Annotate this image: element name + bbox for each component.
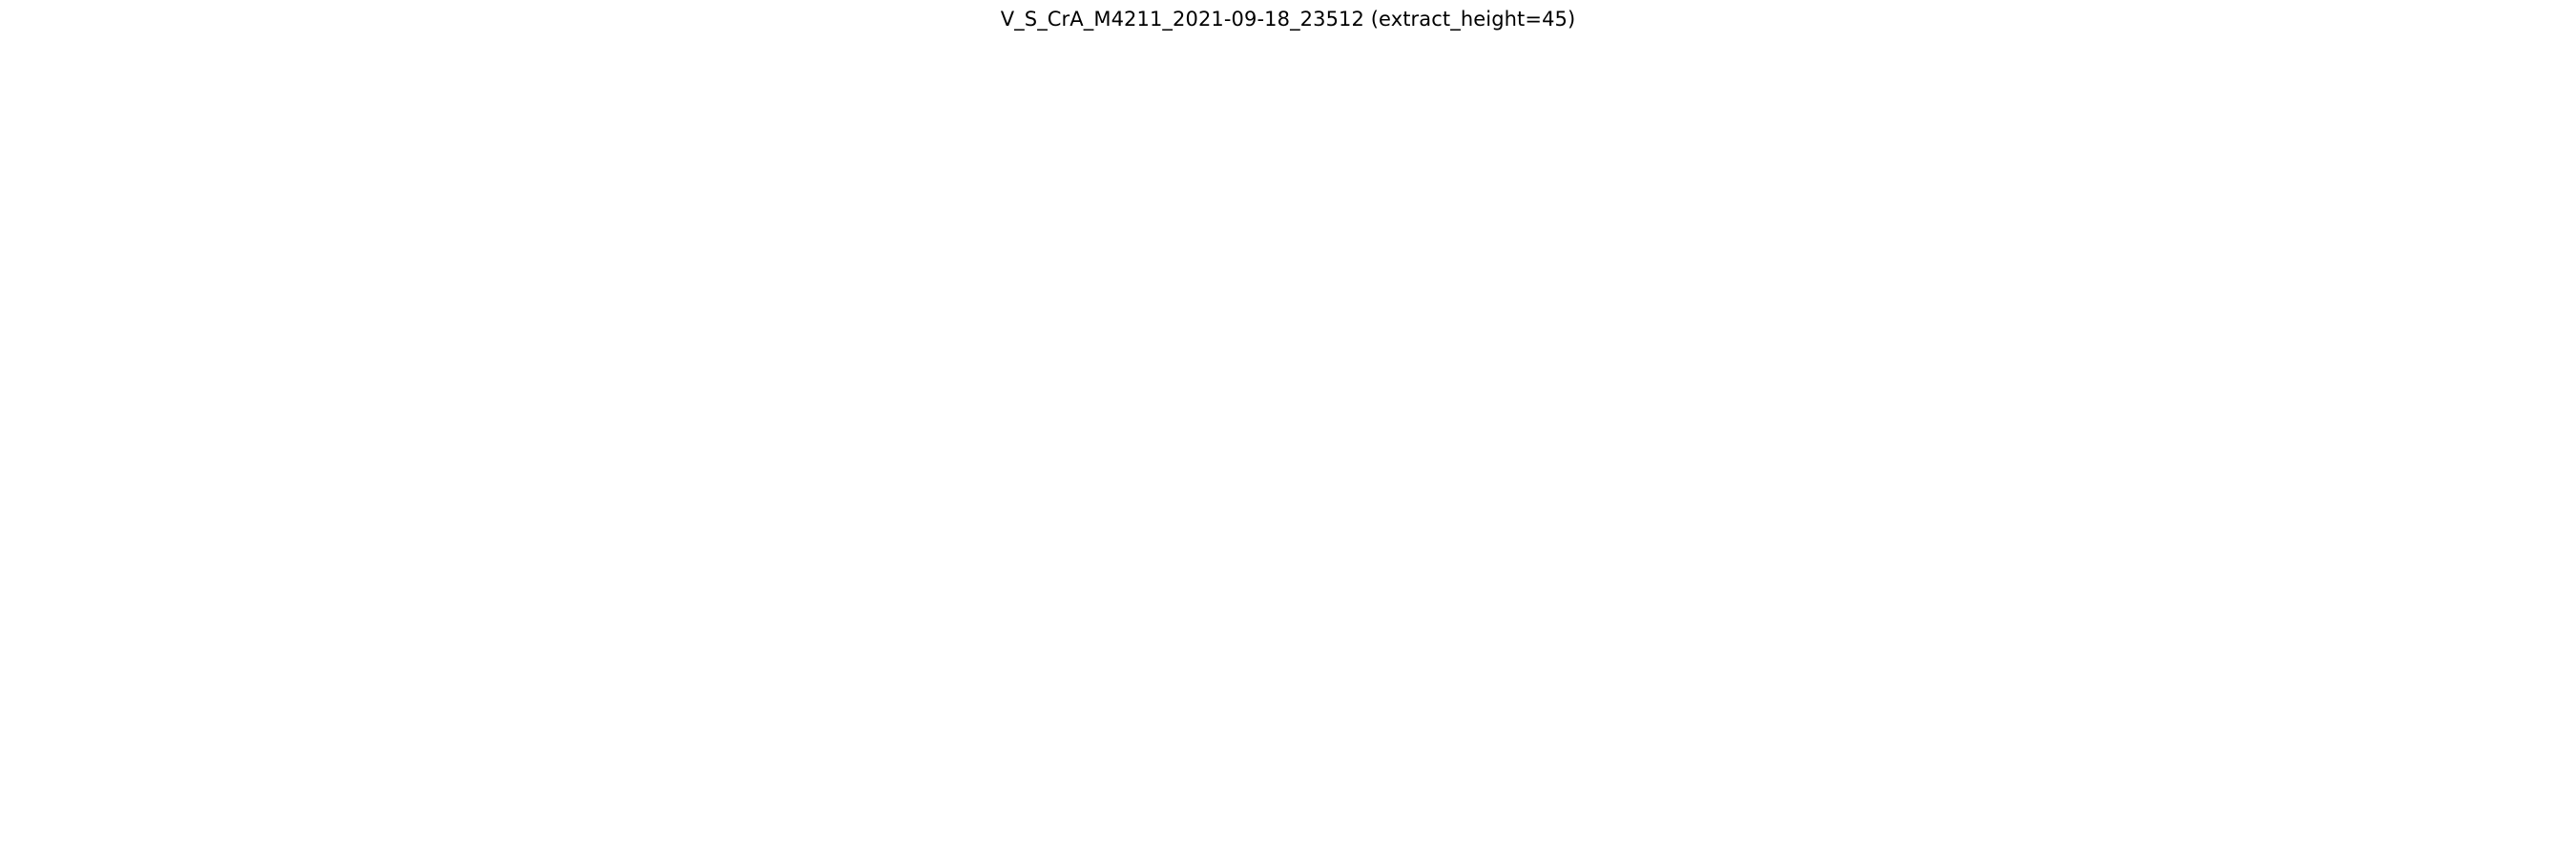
figure-suptitle: V_S_CrA_M4211_2021-09-18_23512 (extract_…: [0, 8, 2576, 31]
figure-root: V_S_CrA_M4211_2021-09-18_23512 (extract_…: [0, 0, 2576, 859]
